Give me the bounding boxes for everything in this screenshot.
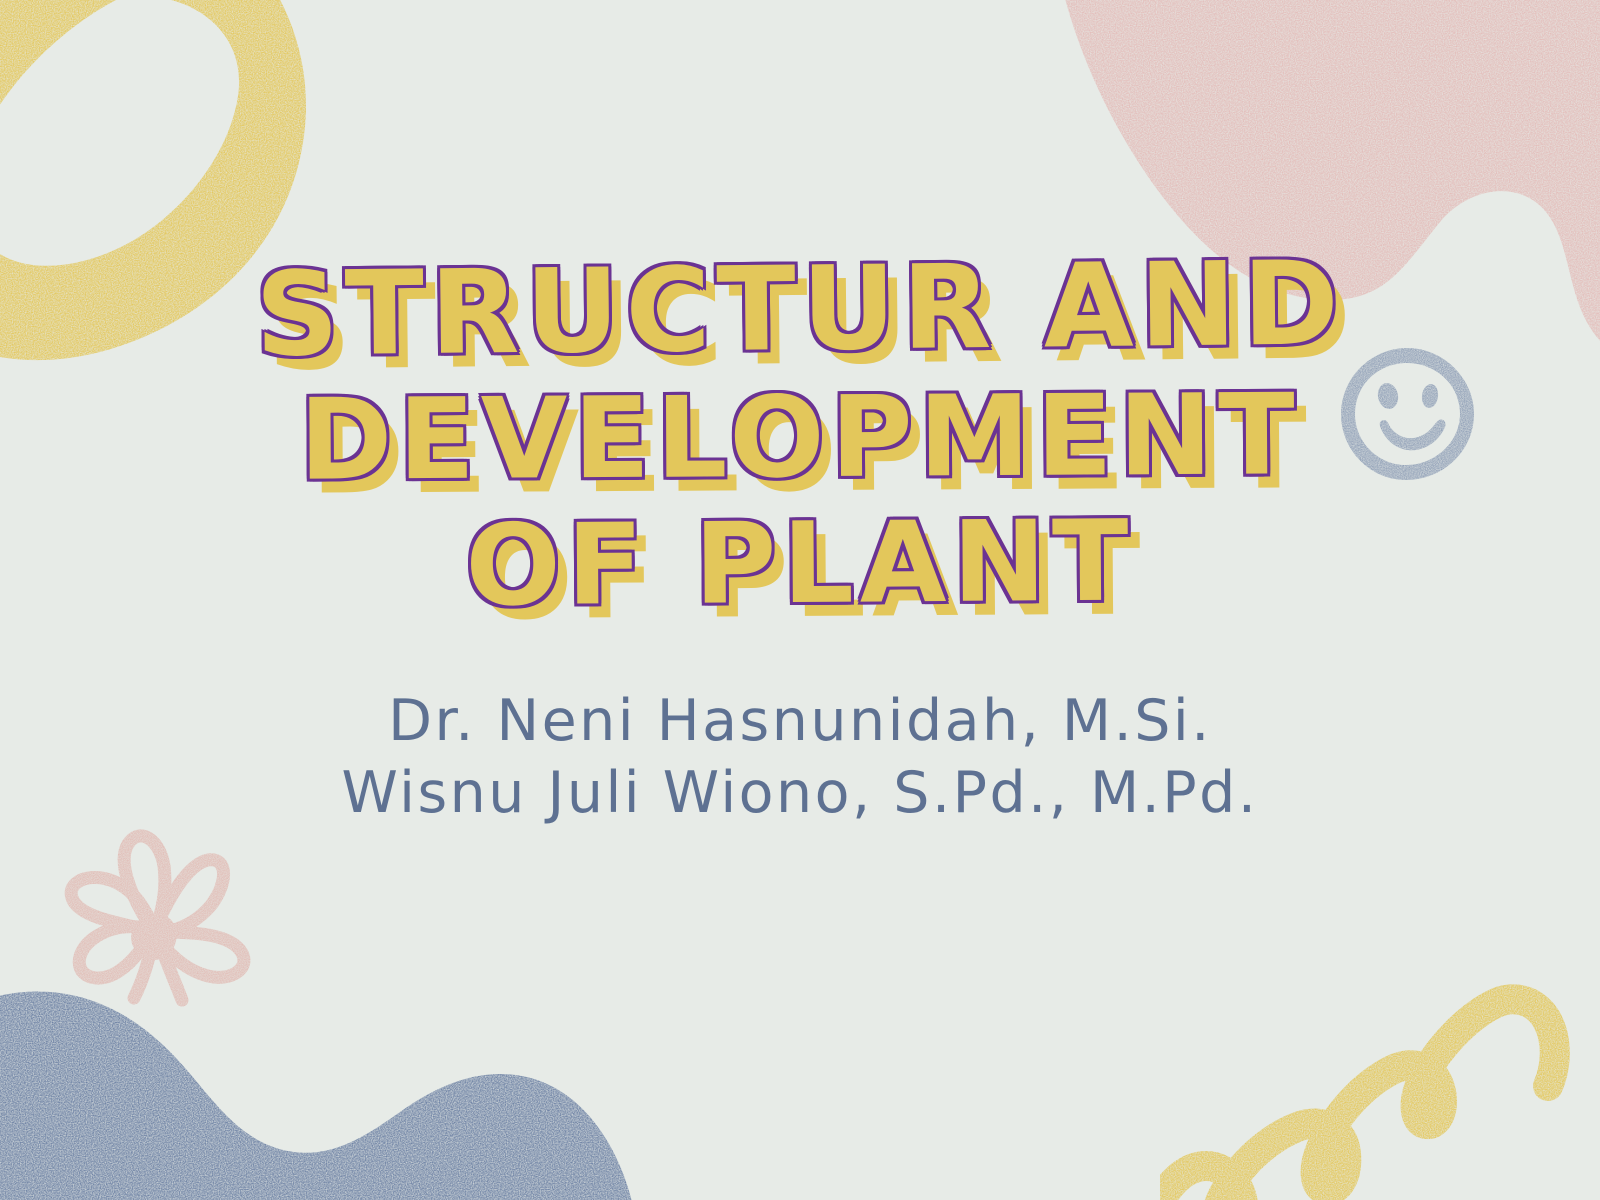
title-line-1: STRUCTUR AND: [209, 246, 1390, 374]
slide-canvas: STRUCTUR AND DEVELOPMENT OF PLANT Dr. Ne…: [0, 0, 1600, 1200]
author-line-2: Wisnu Juli Wiono, S.Pd., M.Pd.: [342, 758, 1259, 830]
author-block: Dr. Neni Hasnunidah, M.Si. Wisnu Juli Wi…: [342, 686, 1259, 830]
title-line-3: OF PLANT: [210, 504, 1391, 624]
page-title: STRUCTUR AND DEVELOPMENT OF PLANT: [210, 252, 1390, 634]
title-line-2: DEVELOPMENT: [210, 379, 1391, 497]
author-line-1: Dr. Neni Hasnunidah, M.Si.: [342, 686, 1259, 758]
slide-content: STRUCTUR AND DEVELOPMENT OF PLANT Dr. Ne…: [0, 0, 1600, 1200]
